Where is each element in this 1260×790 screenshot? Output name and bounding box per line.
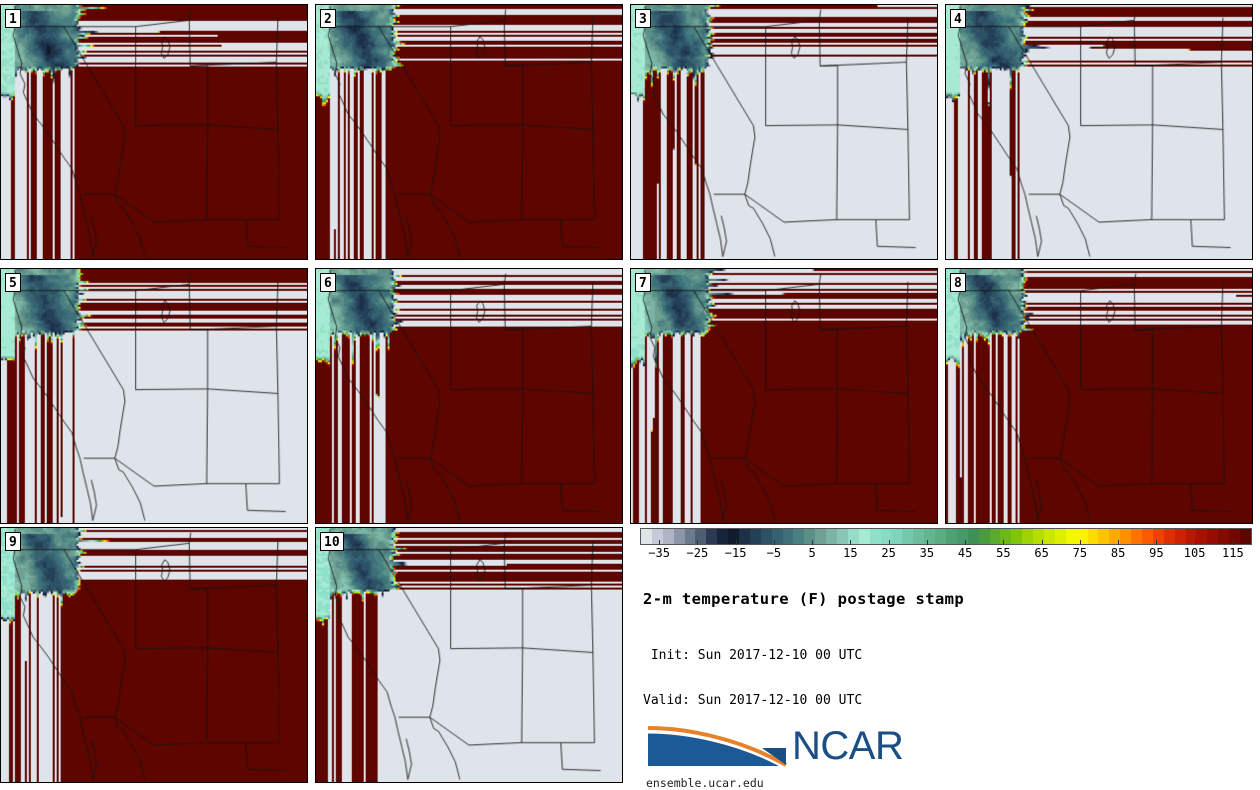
ncar-logo-icon: [646, 718, 788, 774]
colorbar-tick-label: 85: [1111, 546, 1125, 560]
colorbar-cell: [1218, 529, 1229, 544]
colorbar-tickmark: [850, 540, 851, 545]
colorbar-cell: [674, 529, 685, 544]
temperature-map-1: [1, 5, 307, 259]
colorbar-cell: [924, 529, 935, 544]
colorbar-tick-label: 5: [809, 546, 816, 560]
colorbar-tickmark: [1195, 540, 1196, 545]
colorbar-cell: [935, 529, 946, 544]
caption: 2-m temperature (F) postage stamp Init: …: [643, 590, 1243, 738]
temperature-map-7: [631, 269, 937, 523]
colorbar-tick-label: −25: [687, 546, 709, 560]
colorbar-tick-label: 15: [843, 546, 857, 560]
valid-time: Valid: Sun 2017-12-10 00 UTC: [643, 693, 1243, 708]
colorbar-cell: [891, 529, 902, 544]
init-time: Init: Sun 2017-12-10 00 UTC: [643, 648, 1243, 663]
colorbar-cell: [1120, 529, 1131, 544]
colorbar-tickmark: [927, 540, 928, 545]
temperature-map-6: [316, 269, 622, 523]
colorbar-tickmark: [1042, 540, 1043, 545]
ncar-wordmark: NCAR: [792, 726, 903, 766]
colorbar-tick-label: 75: [1073, 546, 1087, 560]
figure-title: 2-m temperature (F) postage stamp: [643, 590, 1243, 608]
colorbar-cell: [881, 529, 892, 544]
temperature-map-10: [316, 528, 622, 782]
colorbar-cell: [870, 529, 881, 544]
panel-number-1: 1: [5, 9, 21, 28]
ensemble-panel-5[interactable]: 5: [0, 268, 308, 524]
colorbar: −35−25−15−55152535455565758595105115: [640, 528, 1252, 565]
colorbar-cell: [979, 529, 990, 544]
colorbar-tick-label: 35: [920, 546, 934, 560]
panel-number-5: 5: [5, 273, 21, 292]
colorbar-cell: [990, 529, 1001, 544]
colorbar-cell: [728, 529, 739, 544]
temperature-map-3: [631, 5, 937, 259]
ensemble-panel-10[interactable]: 10: [315, 527, 623, 783]
colorbar-cell: [902, 529, 913, 544]
colorbar-cell: [1022, 529, 1033, 544]
colorbar-cell: [804, 529, 815, 544]
colorbar-cell: [663, 529, 674, 544]
colorbar-cell: [815, 529, 826, 544]
ensemble-panel-4[interactable]: 4: [945, 4, 1253, 260]
colorbar-cell: [913, 529, 924, 544]
colorbar-tick-label: 105: [1184, 546, 1206, 560]
colorbar-tick-label: 95: [1149, 546, 1163, 560]
temperature-map-5: [1, 269, 307, 523]
panel-number-8: 8: [950, 273, 966, 292]
colorbar-tickmark: [889, 540, 890, 545]
colorbar-cell: [837, 529, 848, 544]
colorbar-tick-label: −5: [767, 546, 781, 560]
colorbar-cell: [685, 529, 696, 544]
colorbar-cell: [783, 529, 794, 544]
ensemble-panel-2[interactable]: 2: [315, 4, 623, 260]
colorbar-cell: [793, 529, 804, 544]
panel-number-7: 7: [635, 273, 651, 292]
colorbar-cell: [1088, 529, 1099, 544]
colorbar-cell: [968, 529, 979, 544]
colorbar-cell: [1011, 529, 1022, 544]
colorbar-tick-label: −15: [725, 546, 747, 560]
ncar-branding: NCAR ensemble.ucar.edu: [646, 718, 903, 790]
colorbar-cell: [1066, 529, 1077, 544]
colorbar-tickmark: [1156, 540, 1157, 545]
panel-number-3: 3: [635, 9, 651, 28]
ensemble-panel-3[interactable]: 3: [630, 4, 938, 260]
colorbar-cell: [1164, 529, 1175, 544]
colorbar-cell: [1055, 529, 1066, 544]
temperature-map-9: [1, 528, 307, 782]
ensemble-panel-7[interactable]: 7: [630, 268, 938, 524]
colorbar-tickmark: [812, 540, 813, 545]
colorbar-cell: [1098, 529, 1109, 544]
colorbar-tickmark: [1003, 540, 1004, 545]
temperature-map-8: [946, 269, 1252, 523]
colorbar-cell: [1044, 529, 1055, 544]
colorbar-cell: [1142, 529, 1153, 544]
colorbar-tick-label: −35: [648, 546, 670, 560]
panel-number-10: 10: [320, 532, 344, 551]
colorbar-cell: [706, 529, 717, 544]
colorbar-cell: [1175, 529, 1186, 544]
colorbar-cell: [750, 529, 761, 544]
colorbar-tickmark: [736, 540, 737, 545]
colorbar-tick-label: 115: [1222, 546, 1244, 560]
colorbar-tickmark: [965, 540, 966, 545]
colorbar-tickmark: [1233, 540, 1234, 545]
colorbar-tick-label: 45: [958, 546, 972, 560]
ensemble-panel-1[interactable]: 1: [0, 4, 308, 260]
colorbar-cell: [641, 529, 652, 544]
colorbar-tick-label: 25: [881, 546, 895, 560]
colorbar-tick-label: 55: [996, 546, 1010, 560]
colorbar-cell: [859, 529, 870, 544]
panel-number-4: 4: [950, 9, 966, 28]
colorbar-cell: [1196, 529, 1207, 544]
colorbar-cell: [946, 529, 957, 544]
temperature-map-4: [946, 5, 1252, 259]
ensemble-panel-9[interactable]: 9: [0, 527, 308, 783]
colorbar-cell: [1000, 529, 1011, 544]
colorbar-cell: [761, 529, 772, 544]
panel-number-2: 2: [320, 9, 336, 28]
colorbar-tickmark: [697, 540, 698, 545]
colorbar-tickmark: [1080, 540, 1081, 545]
colorbar-cell: [717, 529, 728, 544]
colorbar-tickmark: [1118, 540, 1119, 545]
colorbar-cell: [1207, 529, 1218, 544]
panel-number-6: 6: [320, 273, 336, 292]
colorbar-tick-labels: −35−25−15−55152535455565758595105115: [640, 545, 1252, 565]
colorbar-cell: [826, 529, 837, 544]
colorbar-strip: [640, 528, 1252, 545]
colorbar-cell: [1077, 529, 1088, 544]
colorbar-cell: [1240, 529, 1251, 544]
temperature-map-2: [316, 5, 622, 259]
colorbar-cell: [652, 529, 663, 544]
colorbar-tick-label: 65: [1034, 546, 1048, 560]
colorbar-tickmark: [659, 540, 660, 545]
colorbar-cell: [739, 529, 750, 544]
colorbar-cell: [1131, 529, 1142, 544]
colorbar-cell: [1153, 529, 1164, 544]
colorbar-cell: [1229, 529, 1240, 544]
panel-number-9: 9: [5, 532, 21, 551]
ncar-url: ensemble.ucar.edu: [646, 776, 903, 790]
ensemble-panel-8[interactable]: 8: [945, 268, 1253, 524]
colorbar-tickmark: [774, 540, 775, 545]
ensemble-panel-6[interactable]: 6: [315, 268, 623, 524]
